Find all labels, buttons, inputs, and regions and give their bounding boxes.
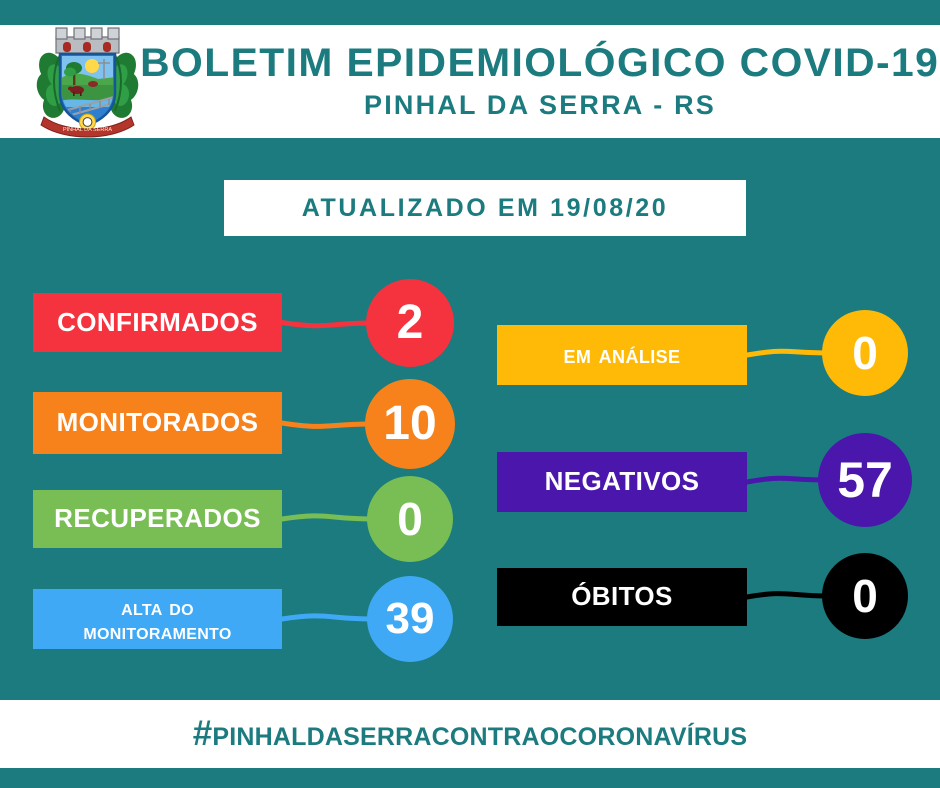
stat-label-em-analise: Em análise — [564, 342, 681, 369]
stat-label-box-obitos[interactable]: ÓBITOS — [497, 568, 747, 626]
stat-label-box-recuperados[interactable]: RECUPERADOS — [33, 490, 282, 548]
stat-value-alta-do-monitoramento: 39 — [386, 597, 435, 641]
stat-label-monitorados: MONITORADOS — [57, 409, 259, 437]
stat-value-circle-confirmados[interactable]: 2 — [366, 279, 454, 367]
stat-label-negativos: NEGATIVOS — [545, 468, 700, 496]
header-titles: BOLETIM EPIDEMIOLÓGICO COVID-19 PINHAL D… — [150, 25, 930, 138]
stat-value-em-analise: 0 — [852, 330, 878, 376]
stat-value-circle-monitorados[interactable]: 10 — [365, 379, 455, 469]
stat-row-recuperados: RECUPERADOS0 — [0, 465, 470, 575]
coat-of-arms-icon: PINHAL DA SERRA — [30, 21, 145, 141]
page-title: BOLETIM EPIDEMIOLÓGICO COVID-19 — [140, 43, 939, 84]
stat-value-circle-alta-do-monitoramento[interactable]: 39 — [367, 576, 453, 662]
stat-label-obitos: ÓBITOS — [571, 583, 673, 611]
stat-label-box-confirmados[interactable]: CONFIRMADOS — [33, 293, 282, 352]
stat-row-em-analise: Em análise0 — [470, 300, 940, 410]
stat-value-recuperados: 0 — [397, 496, 423, 542]
stat-label-box-em-analise[interactable]: Em análise — [497, 325, 747, 385]
stat-row-negativos: NEGATIVOS57 — [470, 427, 940, 537]
stat-label-box-monitorados[interactable]: MONITORADOS — [33, 392, 282, 454]
stat-label-box-alta-do-monitoramento[interactable]: Alta do monitoramento — [33, 589, 282, 649]
stat-value-circle-obitos[interactable]: 0 — [822, 553, 908, 639]
stat-value-obitos: 0 — [852, 573, 878, 619]
footer-band: #PinhalDaSerraContraOCoronavírus — [0, 700, 940, 768]
update-date-text: ATUALIZADO EM 19/08/20 — [302, 194, 669, 223]
stat-value-circle-negativos[interactable]: 57 — [818, 433, 912, 527]
campaign-hashtag: #PinhalDaSerraContraOCoronavírus — [193, 714, 748, 754]
stat-row-obitos: ÓBITOS0 — [470, 543, 940, 653]
header-band: PINHAL DA SERRA BOLETIM EPIDEMIOLÓGICO C… — [0, 25, 940, 138]
stat-row-alta-do-monitoramento: Alta do monitoramento39 — [0, 564, 470, 674]
stat-value-negativos: 57 — [837, 455, 893, 505]
stat-row-confirmados: CONFIRMADOS2 — [0, 268, 470, 378]
update-date-banner: ATUALIZADO EM 19/08/20 — [224, 180, 746, 236]
stat-row-monitorados: MONITORADOS10 — [0, 367, 470, 477]
stat-label-recuperados: RECUPERADOS — [54, 505, 261, 533]
stat-value-confirmados: 2 — [397, 299, 424, 347]
crest-ribbon-text: PINHAL DA SERRA — [63, 127, 112, 133]
stat-label-alta-do-monitoramento: Alta do monitoramento — [83, 595, 231, 644]
stat-value-monitorados: 10 — [383, 400, 436, 448]
page-subtitle: PINHAL DA SERRA - RS — [364, 91, 716, 119]
covid-bulletin-poster: PINHAL DA SERRA BOLETIM EPIDEMIOLÓGICO C… — [0, 0, 940, 788]
stat-label-confirmados: CONFIRMADOS — [57, 309, 258, 337]
stat-label-box-negativos[interactable]: NEGATIVOS — [497, 452, 747, 512]
stat-value-circle-em-analise[interactable]: 0 — [822, 310, 908, 396]
stat-value-circle-recuperados[interactable]: 0 — [367, 476, 453, 562]
